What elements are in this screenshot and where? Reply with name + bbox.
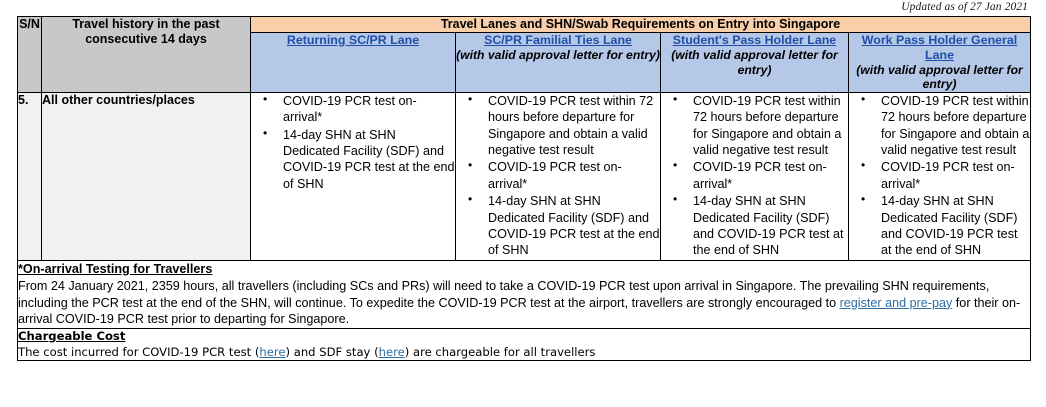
column-header-sn: S/N: [18, 17, 42, 93]
lane-link-returning-sc-pr[interactable]: Returning SC/PR Lane: [251, 33, 455, 48]
table-row: 5. All other countries/places COVID-19 P…: [18, 93, 1031, 261]
cell-travel-history: All other countries/places: [42, 93, 251, 261]
requirement-item: COVID-19 PCR test on-arrival*: [478, 159, 660, 192]
column-header-lane-work-pass-holder-general: Work Pass Holder General Lane (with vali…: [849, 33, 1031, 93]
column-header-lane-students-pass-holder: Student's Pass Holder Lane (with valid a…: [661, 33, 849, 93]
requirement-item: COVID-19 PCR test on-arrival*: [273, 93, 455, 126]
cell-sn: 5.: [18, 93, 42, 261]
footnote-link-sdf-stay-cost[interactable]: here: [379, 345, 405, 359]
column-header-lanes-banner: Travel Lanes and SHN/Swab Requirements o…: [251, 17, 1031, 33]
lane-link-sc-pr-familial-ties[interactable]: SC/PR Familial Ties Lane: [456, 33, 660, 48]
requirements-list: COVID-19 PCR test within 72 hours before…: [849, 93, 1030, 259]
requirement-item: COVID-19 PCR test on-arrival*: [683, 159, 848, 192]
requirement-item: 14-day SHN at SHN Dedicated Facility (SD…: [478, 193, 660, 258]
footnote-link-pcr-test-cost[interactable]: here: [259, 345, 285, 359]
lane-note-work-pass-holder-general: (with valid approval letter for entry): [849, 63, 1030, 92]
requirement-item: COVID-19 PCR test within 72 hours before…: [683, 93, 848, 158]
cell-requirements-work-pass-holder-general: COVID-19 PCR test within 72 hours before…: [849, 93, 1031, 261]
footnote-title: *On-arrival Testing for Travellers: [18, 261, 1030, 277]
lane-note-students-pass-holder: (with valid approval letter for entry): [661, 48, 848, 77]
requirement-item: COVID-19 PCR test within 72 hours before…: [478, 93, 660, 158]
requirement-item: 14-day SHN at SHN Dedicated Facility (SD…: [683, 193, 848, 258]
travel-requirements-table: S/N Travel history in the past consecuti…: [17, 16, 1031, 361]
cell-requirements-returning-sc-pr: COVID-19 PCR test on-arrival* 14-day SHN…: [251, 93, 456, 261]
footnote-row-on-arrival-testing: *On-arrival Testing for Travellers From …: [18, 260, 1031, 329]
table-header-banner-row: S/N Travel history in the past consecuti…: [18, 17, 1031, 33]
requirements-list: COVID-19 PCR test on-arrival* 14-day SHN…: [251, 93, 455, 192]
footnote-text-segment: ) and SDF stay (: [286, 345, 379, 359]
requirement-item: 14-day SHN at SHN Dedicated Facility (SD…: [871, 193, 1030, 258]
footnote-body: The cost incurred for COVID-19 PCR test …: [18, 345, 1030, 360]
column-header-travel-history: Travel history in the past consecutive 1…: [42, 17, 251, 93]
updated-stamp: Updated as of 27 Jan 2021: [901, 1, 1028, 13]
footnote-row-chargeable-cost: Chargeable Cost The cost incurred for CO…: [18, 329, 1031, 361]
footnote-link-register-and-pre-pay[interactable]: register and pre-pay: [840, 296, 953, 310]
requirement-item: COVID-19 PCR test on-arrival*: [871, 159, 1030, 192]
column-header-lane-returning-sc-pr: Returning SC/PR Lane: [251, 33, 456, 93]
requirements-list: COVID-19 PCR test within 72 hours before…: [661, 93, 848, 259]
footnote-on-arrival-testing: *On-arrival Testing for Travellers From …: [18, 260, 1031, 329]
lane-link-work-pass-holder-general[interactable]: Work Pass Holder General Lane: [849, 33, 1030, 63]
cell-requirements-students-pass-holder: COVID-19 PCR test within 72 hours before…: [661, 93, 849, 261]
column-header-lane-sc-pr-familial-ties: SC/PR Familial Ties Lane (with valid app…: [456, 33, 661, 93]
requirement-item: 14-day SHN at SHN Dedicated Facility (SD…: [273, 127, 455, 192]
footnote-title: Chargeable Cost: [18, 329, 1030, 344]
cell-requirements-sc-pr-familial-ties: COVID-19 PCR test within 72 hours before…: [456, 93, 661, 261]
document-page: Updated as of 27 Jan 2021 S/N Travel his…: [0, 0, 1046, 407]
lane-link-students-pass-holder[interactable]: Student's Pass Holder Lane: [661, 33, 848, 48]
requirement-item: COVID-19 PCR test within 72 hours before…: [871, 93, 1030, 158]
footnote-text-segment: The cost incurred for COVID-19 PCR test …: [18, 345, 259, 359]
requirements-list: COVID-19 PCR test within 72 hours before…: [456, 93, 660, 259]
footnote-body: From 24 January 2021, 2359 hours, all tr…: [18, 278, 1030, 328]
lane-note-sc-pr-familial-ties: (with valid approval letter for entry): [456, 48, 660, 63]
footnote-text-segment: ) are chargeable for all travellers: [405, 345, 596, 359]
footnote-chargeable-cost: Chargeable Cost The cost incurred for CO…: [18, 329, 1031, 361]
